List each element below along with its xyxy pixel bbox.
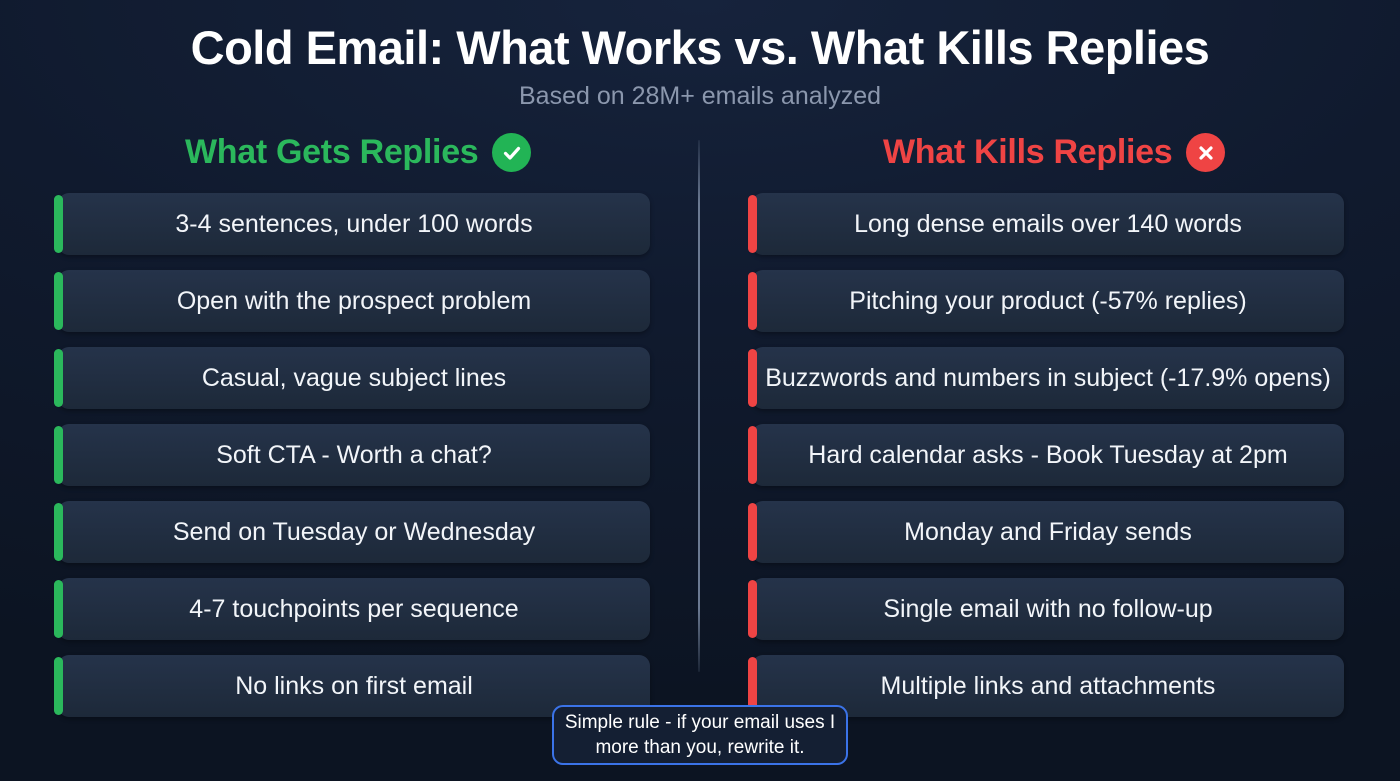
list-item: Hard calendar asks - Book Tuesday at 2pm xyxy=(752,424,1344,486)
good-practices-list: 3-4 sentences, under 100 words Open with… xyxy=(58,193,650,732)
summary-callout-line1: Simple rule - if your email uses I xyxy=(565,712,835,733)
list-item-label: Send on Tuesday or Wednesday xyxy=(155,518,553,547)
infographic-canvas: Cold Email: What Works vs. What Kills Re… xyxy=(0,0,1400,781)
list-item-label: Casual, vague subject lines xyxy=(184,364,524,393)
list-item: Open with the prospect problem xyxy=(58,270,650,332)
list-item: Long dense emails over 140 words xyxy=(752,193,1344,255)
list-item: 4-7 touchpoints per sequence xyxy=(58,578,650,640)
list-item-label: Long dense emails over 140 words xyxy=(836,210,1260,239)
list-item-label: Pitching your product (-57% replies) xyxy=(831,287,1264,316)
column-heading-bad: What Kills Replies xyxy=(883,133,1225,172)
list-item-label: 4-7 touchpoints per sequence xyxy=(171,595,536,624)
list-item-label: Monday and Friday sends xyxy=(886,518,1210,547)
list-item: Casual, vague subject lines xyxy=(58,347,650,409)
list-item: Pitching your product (-57% replies) xyxy=(752,270,1344,332)
list-item-label: Soft CTA - Worth a chat? xyxy=(198,441,510,470)
list-item: Single email with no follow-up xyxy=(752,578,1344,640)
list-item: Monday and Friday sends xyxy=(752,501,1344,563)
list-item: 3-4 sentences, under 100 words xyxy=(58,193,650,255)
list-item-label: Single email with no follow-up xyxy=(865,595,1230,624)
page-subtitle: Based on 28M+ emails analyzed xyxy=(0,82,1400,111)
summary-callout: Simple rule - if your email uses I more … xyxy=(552,705,848,765)
summary-callout-line2: more than you, rewrite it. xyxy=(595,737,804,758)
check-circle-icon xyxy=(492,133,531,172)
summary-callout-text: Simple rule - if your email uses I more … xyxy=(565,710,835,760)
column-divider xyxy=(698,140,700,672)
column-heading-good-label: What Gets Replies xyxy=(185,133,478,172)
column-heading-bad-label: What Kills Replies xyxy=(883,133,1172,172)
list-item: Buzzwords and numbers in subject (-17.9%… xyxy=(752,347,1344,409)
list-item-label: Open with the prospect problem xyxy=(159,287,549,316)
x-circle-icon xyxy=(1186,133,1225,172)
list-item-label: Hard calendar asks - Book Tuesday at 2pm xyxy=(790,441,1305,470)
column-heading-good: What Gets Replies xyxy=(185,133,531,172)
list-item-label: 3-4 sentences, under 100 words xyxy=(157,210,550,239)
page-title: Cold Email: What Works vs. What Kills Re… xyxy=(0,20,1400,75)
list-item-label: Buzzwords and numbers in subject (-17.9%… xyxy=(747,364,1349,393)
list-item-label: Multiple links and attachments xyxy=(863,672,1234,701)
list-item-label: No links on first email xyxy=(217,672,491,701)
list-item: Send on Tuesday or Wednesday xyxy=(58,501,650,563)
list-item: Soft CTA - Worth a chat? xyxy=(58,424,650,486)
bad-practices-list: Long dense emails over 140 words Pitchin… xyxy=(752,193,1344,732)
